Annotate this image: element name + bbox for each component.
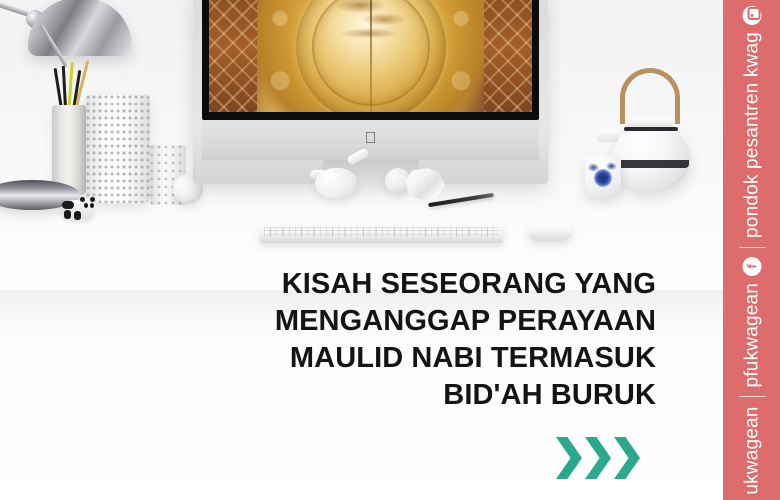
sidebar-divider xyxy=(739,396,765,397)
perforated-cylinder xyxy=(86,95,150,203)
social-sidebar: pondok pesantren kwag f pfukwagean ukwag… xyxy=(723,0,780,500)
panda-eye xyxy=(90,203,94,208)
chevron-right-icon xyxy=(556,437,582,479)
panda-leg xyxy=(74,211,81,220)
social-item-facebook[interactable]: f pfukwagean xyxy=(741,257,763,387)
panda-figurine xyxy=(57,196,97,222)
poster-canvas:  KISAH SESEORANG YANG MENGANGGAP PERAYA… xyxy=(0,0,780,500)
teapot-spout xyxy=(596,129,618,142)
ceramic-bird xyxy=(315,168,357,198)
panda-arm xyxy=(62,201,74,209)
instagram-icon xyxy=(742,6,761,25)
headline-text: KISAH SESEORANG YANG MENGANGGAP PERAYAAN… xyxy=(250,266,656,414)
keyboard-keys xyxy=(264,227,499,237)
sidebar-divider xyxy=(739,247,765,248)
headline-line-1: KISAH SESEORANG YANG xyxy=(250,266,656,303)
teacup-pattern-flower xyxy=(593,168,613,188)
swipe-chevrons[interactable] xyxy=(556,437,640,479)
social-label-third: ukwagean xyxy=(741,406,763,494)
teapot-lid-line xyxy=(624,127,678,131)
social-sidebar-content: pondok pesantren kwag f pfukwagean ukwag… xyxy=(723,0,780,500)
facebook-icon: f xyxy=(742,257,761,276)
headline-line-4: BID'AH BURUK xyxy=(250,377,656,414)
imac-screen xyxy=(202,0,539,120)
teapot-body xyxy=(612,125,690,191)
apple-keyboard xyxy=(260,224,503,243)
magic-mouse xyxy=(528,222,572,241)
panda-ear xyxy=(90,197,95,202)
teacup xyxy=(585,155,621,197)
chevron-right-icon xyxy=(614,437,640,479)
panda-leg xyxy=(64,210,71,219)
teapot-handle xyxy=(620,68,680,124)
imac-computer:  xyxy=(193,0,548,184)
headline-line-3: MAULID NABI TERMASUK xyxy=(250,340,656,377)
social-label-facebook: pfukwagean xyxy=(741,283,763,387)
chevron-right-icon xyxy=(585,437,611,479)
teapot-black-band xyxy=(613,160,689,168)
artwork-door-seam xyxy=(370,0,372,112)
apple-logo-icon:  xyxy=(364,131,378,148)
headline-line-2: MENGANGGAP PERAYAAN xyxy=(250,303,656,340)
social-item-third[interactable]: ukwagean xyxy=(741,406,763,494)
panda-ear xyxy=(80,197,85,202)
panda-eye xyxy=(84,203,88,208)
screen-artwork-islamic-door xyxy=(209,0,532,112)
social-label-instagram: pondok pesantren kwag xyxy=(741,32,763,238)
social-item-instagram[interactable]: pondok pesantren kwag xyxy=(741,6,763,238)
